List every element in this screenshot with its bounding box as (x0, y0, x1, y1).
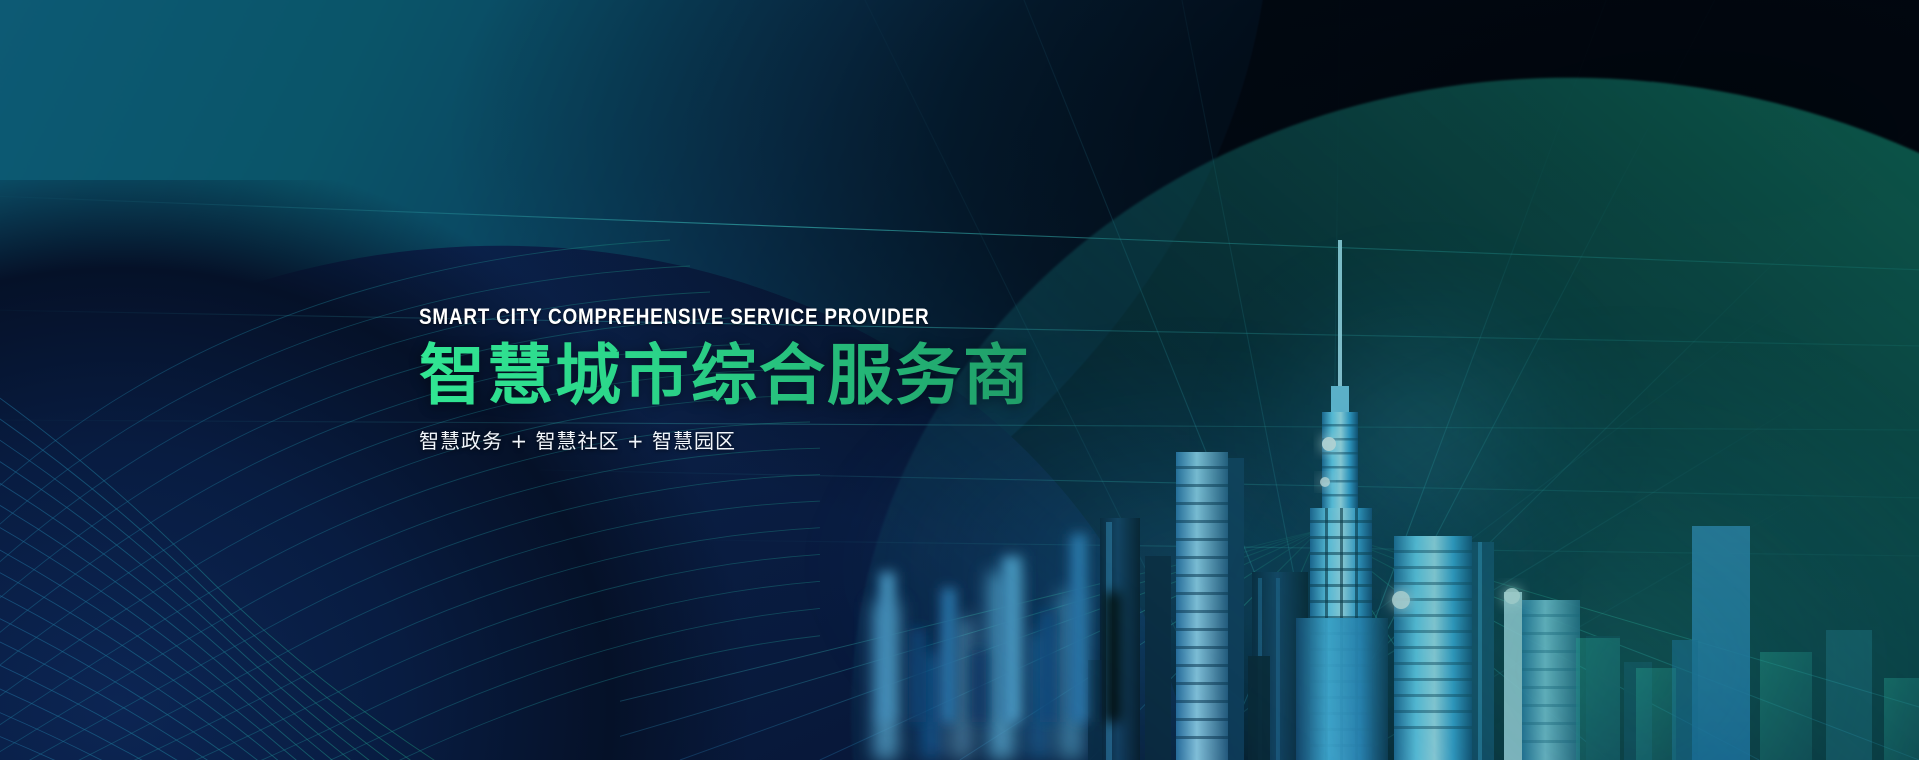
smart-city-hero-banner: SMART CITY COMPREHENSIVE SERVICE PROVIDE… (0, 0, 1919, 760)
hero-copy-block: SMART CITY COMPREHENSIVE SERVICE PROVIDE… (419, 305, 1319, 454)
hero-headline: 智慧城市综合服务商 (419, 341, 1319, 411)
hero-subline: 智慧政务 + 智慧社区 + 智慧园区 (419, 425, 1319, 454)
hero-eyebrow: SMART CITY COMPREHENSIVE SERVICE PROVIDE… (419, 305, 1193, 329)
